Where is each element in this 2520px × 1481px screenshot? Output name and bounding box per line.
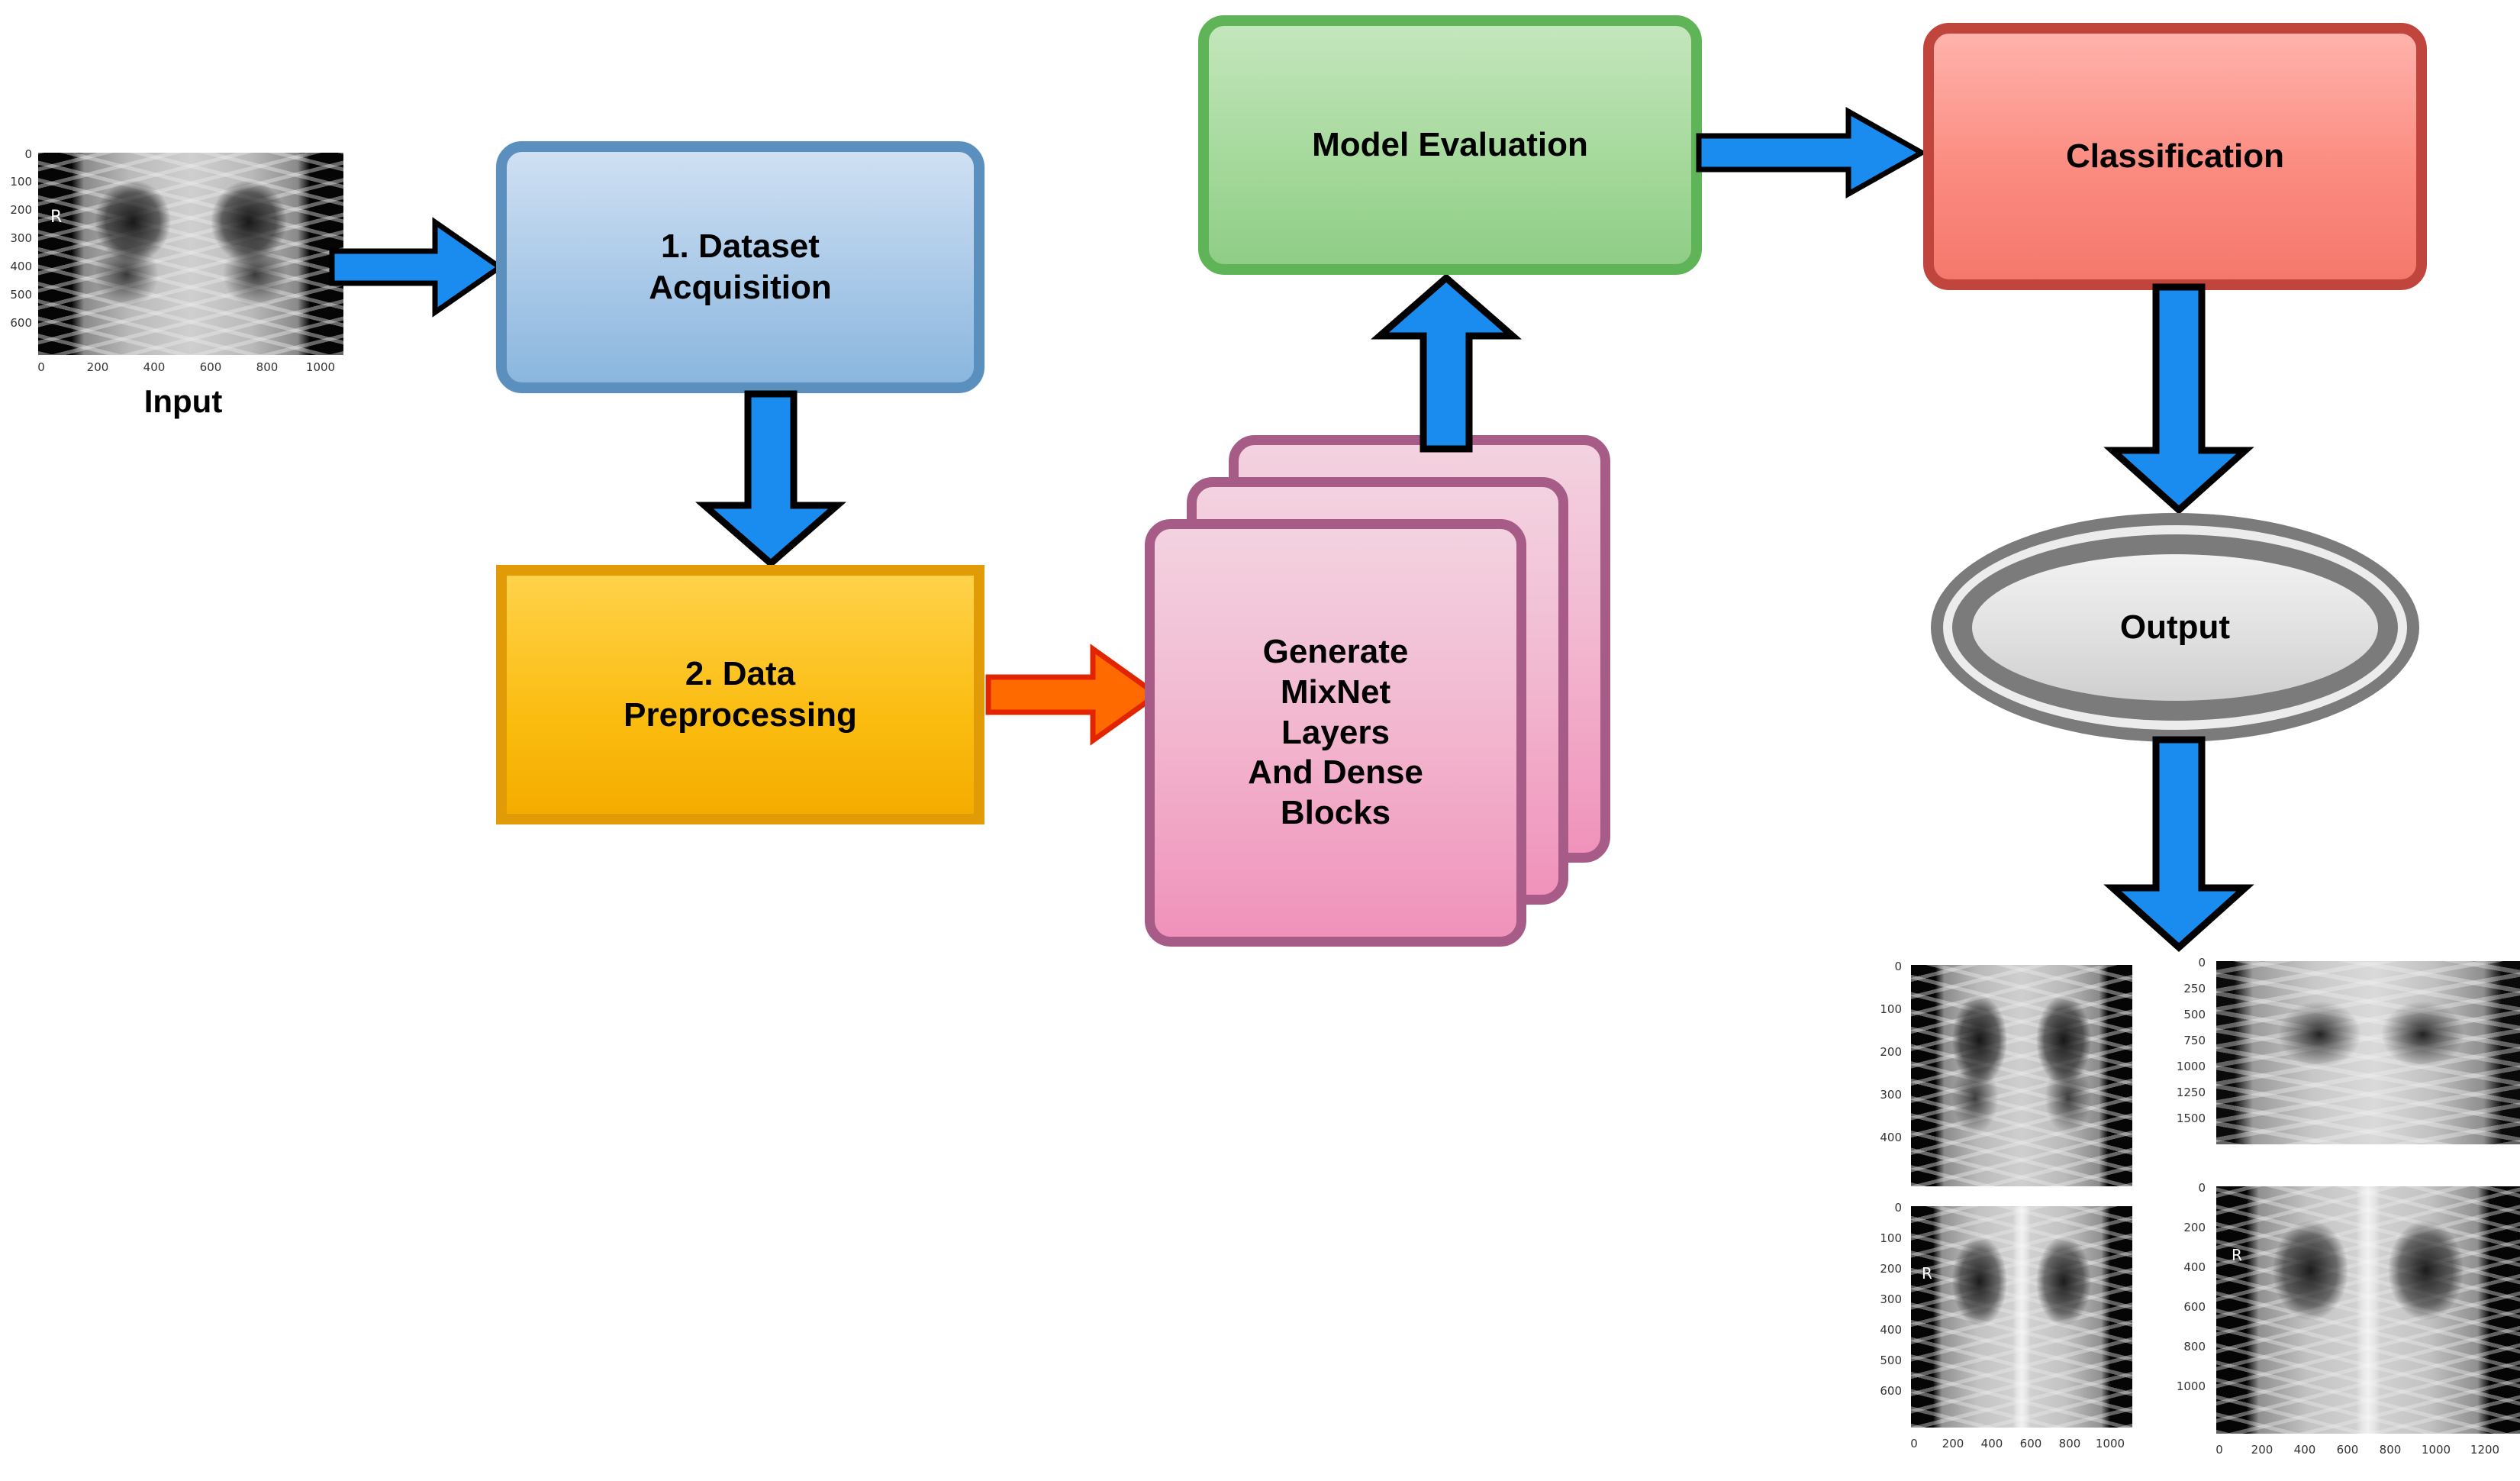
node-generate-layers-stack[interactable]: Generate MixNet Layers And Dense Blocks	[1145, 435, 1618, 954]
panel-bottom-left-marker-r: R	[1922, 1264, 1932, 1283]
input-xtick-400: 400	[143, 360, 166, 374]
data-preprocessing-line1: 2. Data	[624, 653, 857, 695]
panel-bottom-left-ytick-100: 100	[1851, 1231, 1902, 1245]
generate-layers-line2: MixNet	[1248, 673, 1423, 713]
input-xtick-0: 0	[37, 360, 45, 374]
panel-top-left-ytick-400: 400	[1851, 1131, 1902, 1144]
output-label: Output	[2120, 608, 2230, 647]
panel-bottom-left-ytick-400: 400	[1851, 1323, 1902, 1337]
panel-bottom-left-ytick-200: 200	[1851, 1262, 1902, 1276]
input-ytick-100: 100	[8, 175, 32, 189]
input-ytick-200: 200	[8, 203, 32, 217]
input-ytick-600: 600	[8, 316, 32, 330]
panel-bottom-left: R 0 100 200 300 400 500 600 0 200 400 60…	[1847, 1199, 2152, 1481]
panel-bottom-left-xtick-1000: 1000	[2096, 1437, 2125, 1450]
input-xray-marker-r: R	[50, 208, 62, 227]
panel-bottom-left-xtick-400: 400	[1981, 1437, 2003, 1450]
generate-layers-line3: Layers	[1248, 713, 1423, 753]
generate-layers-card-front[interactable]: Generate MixNet Layers And Dense Blocks	[1145, 519, 1526, 947]
panel-bottom-right-ytick-600: 600	[2152, 1300, 2206, 1314]
input-xtick-800: 800	[256, 360, 279, 374]
panel-top-right-ytick-250: 250	[2152, 982, 2206, 995]
panel-bottom-left-xtick-600: 600	[2020, 1437, 2042, 1450]
arrow-input-to-dataset	[328, 218, 504, 317]
dataset-acquisition-line2: Acquisition	[649, 267, 832, 308]
panel-bottom-right: R 0 200 400 600 800 1000 0 200 400 600 8…	[2152, 1168, 2520, 1481]
input-ytick-400: 400	[8, 260, 32, 273]
input-xray-image: R	[38, 153, 343, 355]
panel-bottom-left-xtick-200: 200	[1942, 1437, 1964, 1450]
panel-bottom-left-ytick-300: 300	[1851, 1292, 1902, 1306]
arrow-preprocessing-to-generate	[984, 645, 1160, 744]
panel-top-right-ytick-500: 500	[2152, 1008, 2206, 1021]
panel-bottom-left-ytick-600: 600	[1851, 1384, 1902, 1398]
generate-layers-line5: Blocks	[1248, 793, 1423, 834]
panel-bottom-right-marker-r: R	[2232, 1246, 2242, 1264]
panel-bottom-right-xtick-800: 800	[2380, 1443, 2402, 1457]
input-label: Input	[8, 383, 359, 420]
input-ytick-0: 0	[8, 147, 32, 161]
arrow-dataset-to-preprocessing	[698, 391, 843, 566]
panel-top-right-ytick-750: 750	[2152, 1034, 2206, 1047]
panel-bottom-right-xtick-600: 600	[2337, 1443, 2359, 1457]
input-xray-figure: R 0 100 200 300 400 500 600 0 200 400 60…	[8, 137, 359, 443]
panel-bottom-right-xtick-1200: 1200	[2470, 1443, 2499, 1457]
panel-bottom-right-image: R	[2216, 1186, 2520, 1434]
panel-bottom-right-ytick-800: 800	[2152, 1340, 2206, 1354]
generate-layers-line4: And Dense	[1248, 753, 1423, 793]
input-ytick-500: 500	[8, 288, 32, 302]
panel-top-right-image	[2216, 961, 2520, 1144]
panel-bottom-left-xtick-0: 0	[1910, 1437, 1918, 1450]
panel-bottom-left-ytick-500: 500	[1851, 1354, 1902, 1367]
panel-bottom-left-xtick-800: 800	[2059, 1437, 2081, 1450]
panel-top-right-ytick-0: 0	[2152, 956, 2206, 970]
node-data-preprocessing[interactable]: 2. Data Preprocessing	[496, 565, 984, 824]
panel-top-left-image	[1911, 965, 2132, 1186]
panel-top-left-ytick-100: 100	[1851, 1002, 1902, 1016]
dataset-acquisition-line1: 1. Dataset	[649, 226, 832, 267]
input-xtick-600: 600	[200, 360, 222, 374]
output-ellipse-face: Output	[1972, 554, 2378, 701]
node-classification[interactable]: Classification	[1923, 23, 2427, 290]
node-output[interactable]: Output	[1931, 513, 2419, 742]
panel-bottom-right-xtick-0: 0	[2215, 1443, 2223, 1457]
panel-bottom-right-ytick-0: 0	[2152, 1181, 2206, 1195]
arrow-classification-to-output	[2106, 284, 2251, 513]
panel-bottom-left-ytick-0: 0	[1851, 1201, 1902, 1215]
panel-top-left: 0 100 200 300 400	[1847, 954, 2152, 1199]
panel-top-left-ytick-300: 300	[1851, 1088, 1902, 1102]
panel-bottom-right-ytick-400: 400	[2152, 1260, 2206, 1274]
panel-bottom-right-ytick-200: 200	[2152, 1221, 2206, 1234]
input-xtick-200: 200	[87, 360, 109, 374]
panel-bottom-right-xtick-200: 200	[2251, 1443, 2273, 1457]
node-model-evaluation[interactable]: Model Evaluation	[1198, 15, 1702, 275]
panel-bottom-right-ytick-1000: 1000	[2152, 1379, 2206, 1393]
classification-label: Classification	[2066, 137, 2284, 176]
node-dataset-acquisition[interactable]: 1. Dataset Acquisition	[496, 141, 984, 393]
panel-bottom-left-image: R	[1911, 1206, 2132, 1428]
panel-top-right-ytick-1000: 1000	[2152, 1060, 2206, 1073]
arrow-output-to-gallery	[2106, 737, 2251, 950]
panel-top-right-ytick-1250: 1250	[2152, 1086, 2206, 1099]
panel-top-right-ytick-1500: 1500	[2152, 1112, 2206, 1125]
panel-bottom-right-xtick-1000: 1000	[2422, 1443, 2451, 1457]
generate-layers-line1: Generate	[1248, 632, 1423, 673]
panel-top-left-ytick-0: 0	[1851, 960, 1902, 973]
panel-top-right: 0 250 500 750 1000 1250 1500	[2152, 952, 2520, 1181]
input-xtick-1000: 1000	[306, 360, 335, 374]
input-ytick-300: 300	[8, 231, 32, 245]
model-evaluation-label: Model Evaluation	[1312, 126, 1588, 164]
output-xray-gallery: 0 100 200 300 400 0 250 500 750 1000 125…	[1847, 954, 2520, 1481]
arrow-generate-to-evaluation	[1374, 273, 1519, 453]
panel-top-left-ytick-200: 200	[1851, 1045, 1902, 1059]
panel-bottom-right-xtick-400: 400	[2294, 1443, 2316, 1457]
data-preprocessing-line2: Preprocessing	[624, 695, 857, 736]
arrow-evaluation-to-classification	[1696, 107, 1925, 198]
